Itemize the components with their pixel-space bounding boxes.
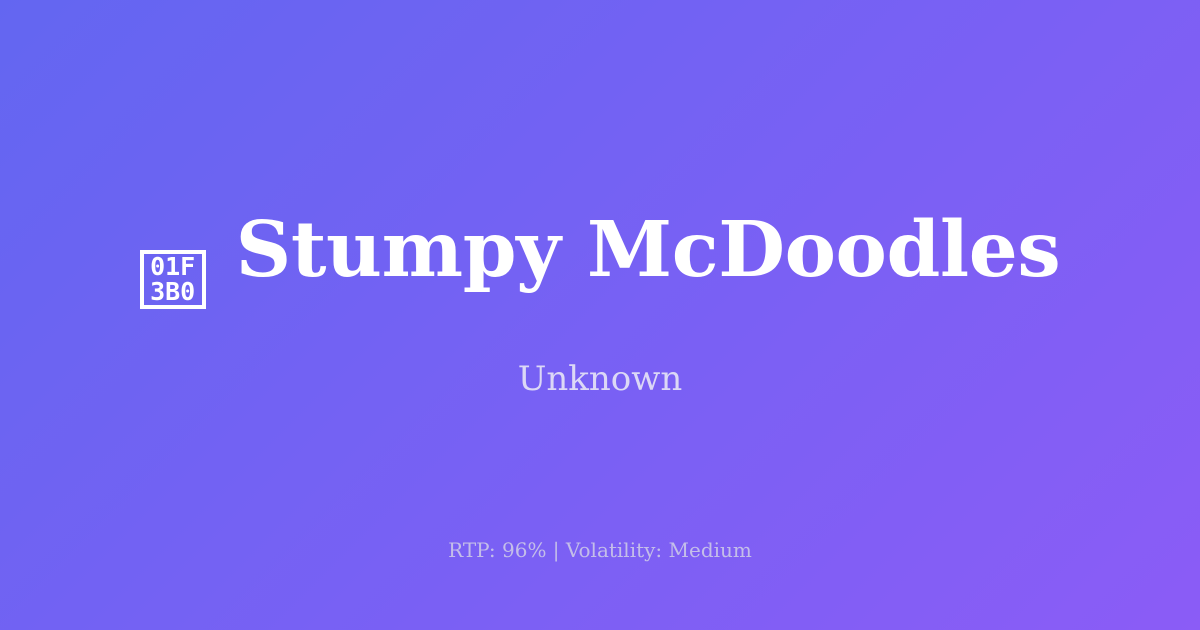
slot-machine-emoji-icon: 01F 3B0 <box>140 250 206 309</box>
codepoint-line-upper: 01F <box>150 254 195 279</box>
social-share-card: 01F 3B0 Stumpy McDoodles Unknown RTP: 96… <box>0 0 1200 630</box>
page-title: Stumpy McDoodles <box>206 212 1061 289</box>
codepoint-line-lower: 3B0 <box>150 279 195 304</box>
card-title-row: 01F 3B0 Stumpy McDoodles <box>140 212 1061 310</box>
card-hero-block: 01F 3B0 Stumpy McDoodles Unknown <box>0 212 1200 396</box>
card-meta-line: RTP: 96% | Volatility: Medium <box>0 540 1200 560</box>
card-subtitle: Unknown <box>518 362 683 396</box>
